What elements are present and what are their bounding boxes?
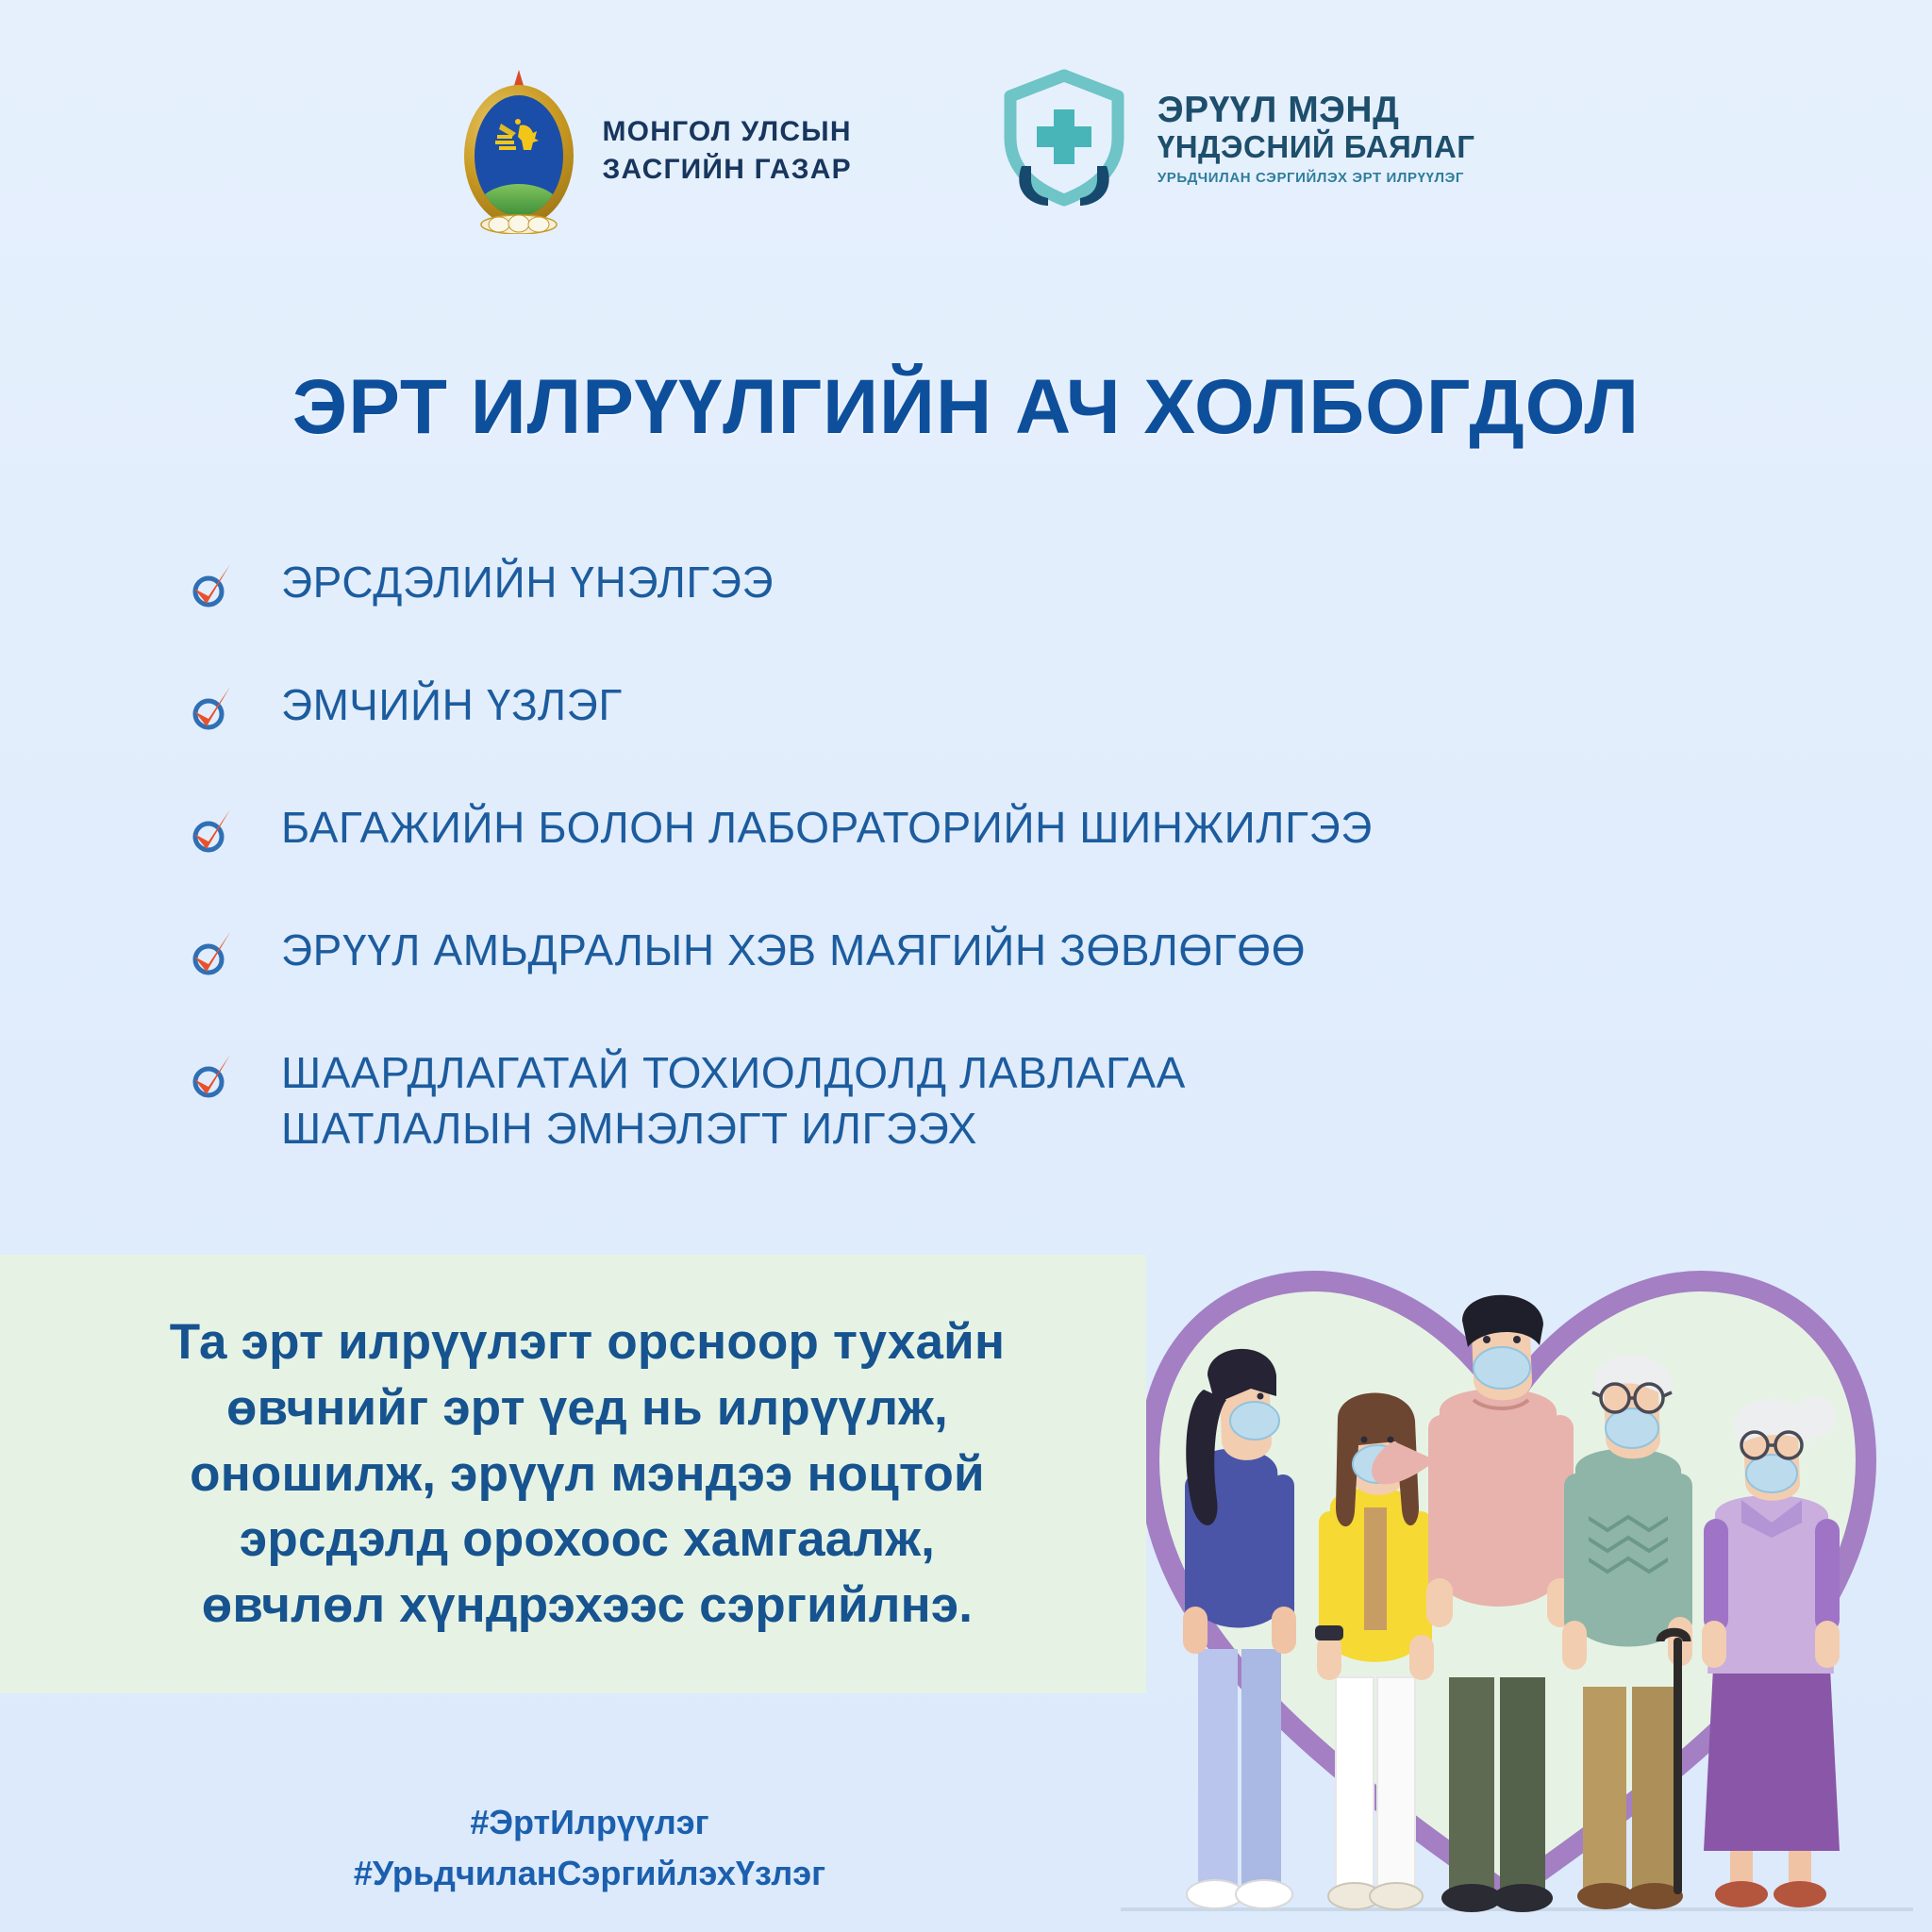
callout-box: Та эрт илрүүлэгт орсноор тухайн өвчнийг …: [0, 1255, 1146, 1693]
list-item: ЭМЧИЙН ҮЗЛЭГ: [189, 677, 1660, 734]
list-item-label: БАГАЖИЙН БОЛОН ЛАБОРАТОРИЙН ШИНЖИЛГЭЭ: [281, 800, 1373, 856]
list-item: ЭРҮҮЛ АМЬДРАЛЫН ХЭВ МАЯГИЙН ЗӨВЛӨГӨӨ: [189, 923, 1660, 979]
list-item-label: ЭРСДЭЛИЙН ҮНЭЛГЭЭ: [281, 555, 774, 610]
check-mark-icon: [189, 685, 232, 734]
callout-line-2: өвчнийг эрт үед нь илрүүлж,: [226, 1380, 948, 1436]
hashtag-1[interactable]: #ЭртИлрүүлэг: [0, 1797, 1179, 1848]
health-logo-text: ЭРҮҮЛ МЭНД ҮНДЭСНИЙ БАЯЛАГ УРЬДЧИЛАН СЭР…: [1158, 92, 1475, 185]
callout-line-1: Та эрт илрүүлэгт орсноор тухайн: [170, 1314, 1005, 1370]
callout-text: Та эрт илрүүлэгт орсноор тухайн өвчнийг …: [170, 1309, 1005, 1640]
header-logos: МОНГОЛ УЛСЫН ЗАСГИЙН ГАЗАР ЭРҮҮЛ МЭНД ҮН…: [0, 68, 1932, 234]
list-item: ЭРСДЭЛИЙН ҮНЭЛГЭЭ: [189, 555, 1660, 611]
soyombo-horse-icon: [490, 116, 548, 158]
health-ministry-logo: ЭРҮҮЛ МЭНД ҮНДЭСНИЙ БАЯЛАГ УРЬДЧИЛАН СЭР…: [993, 68, 1475, 209]
list-item-label: ЭМЧИЙН ҮЗЛЭГ: [281, 677, 623, 733]
gov-logo-line1: МОНГОЛ УЛСЫН: [602, 113, 851, 151]
health-logo-line2: ҮНДЭСНИЙ БАЯЛАГ: [1158, 130, 1475, 164]
check-mark-icon: [189, 930, 232, 979]
callout-line-4: эрсдэлд орохоос хамгаалж,: [240, 1511, 935, 1567]
check-mark-icon: [189, 808, 232, 857]
check-mark-icon: [189, 562, 232, 611]
poster-root: МОНГОЛ УЛСЫН ЗАСГИЙН ГАЗАР ЭРҮҮЛ МЭНД ҮН…: [0, 0, 1932, 1932]
list-item-label: ЭРҮҮЛ АМЬДРАЛЫН ХЭВ МАЯГИЙН ЗӨВЛӨГӨӨ: [281, 923, 1306, 978]
lotus-base-icon: [478, 209, 559, 234]
shield-cross-hands-icon: [993, 68, 1135, 209]
health-logo-line1: ЭРҮҮЛ МЭНД: [1158, 92, 1475, 130]
mongolia-state-emblem-icon: [457, 68, 581, 234]
callout-line-3: оношилж, эрүүл мэндээ ноцтой: [190, 1446, 985, 1502]
check-mark-icon: [189, 1053, 232, 1102]
callout-line-5: өвчлөл хүндрэхээс сэргийлнэ.: [202, 1577, 973, 1633]
page-title: ЭРТ ИЛРҮҮЛГИЙН АЧ ХОЛБОГДОЛ: [0, 363, 1932, 452]
government-logo: МОНГОЛ УЛСЫН ЗАСГИЙН ГАЗАР: [457, 68, 851, 234]
gov-logo-line2: ЗАСГИЙН ГАЗАР: [602, 151, 851, 189]
hashtag-2[interactable]: #УрьдчиланСэргийлэхҮзлэг: [0, 1848, 1179, 1899]
government-logo-text: МОНГОЛ УЛСЫН ЗАСГИЙН ГАЗАР: [602, 113, 851, 189]
family-illustration: [1083, 1064, 1932, 1932]
hashtag-group: #ЭртИлрүүлэг #УрьдчиланСэргийлэхҮзлэг: [0, 1797, 1179, 1899]
list-item: БАГАЖИЙН БОЛОН ЛАБОРАТОРИЙН ШИНЖИЛГЭЭ: [189, 800, 1660, 857]
health-logo-line3: УРЬДЧИЛАН СЭРГИЙЛЭХ ЭРТ ИЛРҮҮЛЭГ: [1158, 170, 1475, 186]
